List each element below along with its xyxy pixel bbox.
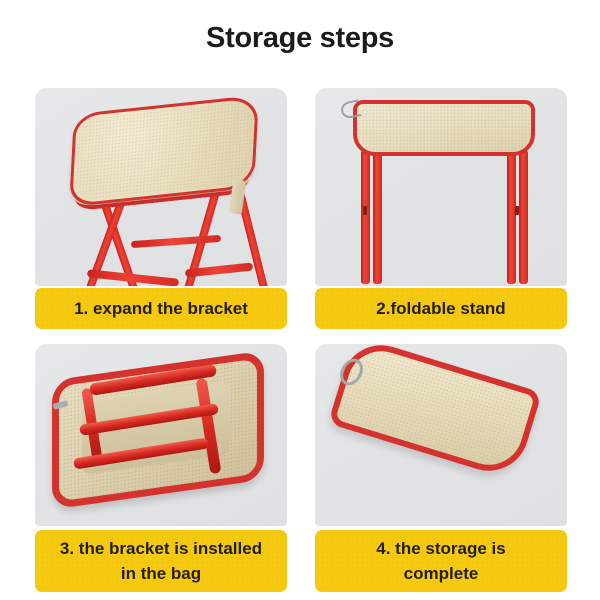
stool-crossbar bbox=[131, 235, 221, 248]
step-3-photo bbox=[35, 344, 287, 526]
steps-grid: 1. expand the bracket 2.foldable stand bbox=[35, 88, 567, 592]
storage-bag-closed-icon bbox=[315, 344, 567, 526]
page-title: Storage steps bbox=[0, 22, 600, 55]
step-1-caption: 1. expand the bracket bbox=[35, 288, 287, 329]
stand-joint bbox=[515, 206, 519, 215]
stand-seat-flap bbox=[353, 100, 535, 156]
stand-joint bbox=[363, 206, 367, 215]
step-3-caption: 3. the bracket is installed in the bag bbox=[35, 530, 287, 592]
step-1-caption-text: 1. expand the bracket bbox=[35, 288, 287, 329]
step-4-caption: 4. the storage is complete bbox=[315, 530, 567, 592]
step-panel-1[interactable]: 1. expand the bracket bbox=[35, 88, 287, 336]
folding-stool-open-icon bbox=[35, 88, 287, 286]
stand-leg bbox=[507, 150, 516, 284]
step-4-caption-line2: complete bbox=[315, 561, 567, 586]
stand-leg bbox=[361, 150, 370, 284]
step-panel-2[interactable]: 2.foldable stand bbox=[315, 88, 567, 336]
stand-leg bbox=[373, 150, 382, 284]
step-1-photo bbox=[35, 88, 287, 286]
step-2-caption-text: 2.foldable stand bbox=[315, 288, 567, 329]
step-4-photo bbox=[315, 344, 567, 526]
bracket-in-bag-icon bbox=[35, 344, 287, 526]
stand-leg bbox=[519, 150, 528, 284]
step-2-photo bbox=[315, 88, 567, 286]
step-panel-3[interactable]: 3. the bracket is installed in the bag bbox=[35, 344, 287, 592]
folding-stand-icon bbox=[315, 88, 567, 286]
step-2-caption: 2.foldable stand bbox=[315, 288, 567, 329]
step-3-caption-line1: 3. the bracket is installed bbox=[35, 536, 287, 561]
step-panel-4[interactable]: 4. the storage is complete bbox=[315, 344, 567, 592]
step-4-caption-line1: 4. the storage is bbox=[315, 536, 567, 561]
step-3-caption-line2: in the bag bbox=[35, 561, 287, 586]
